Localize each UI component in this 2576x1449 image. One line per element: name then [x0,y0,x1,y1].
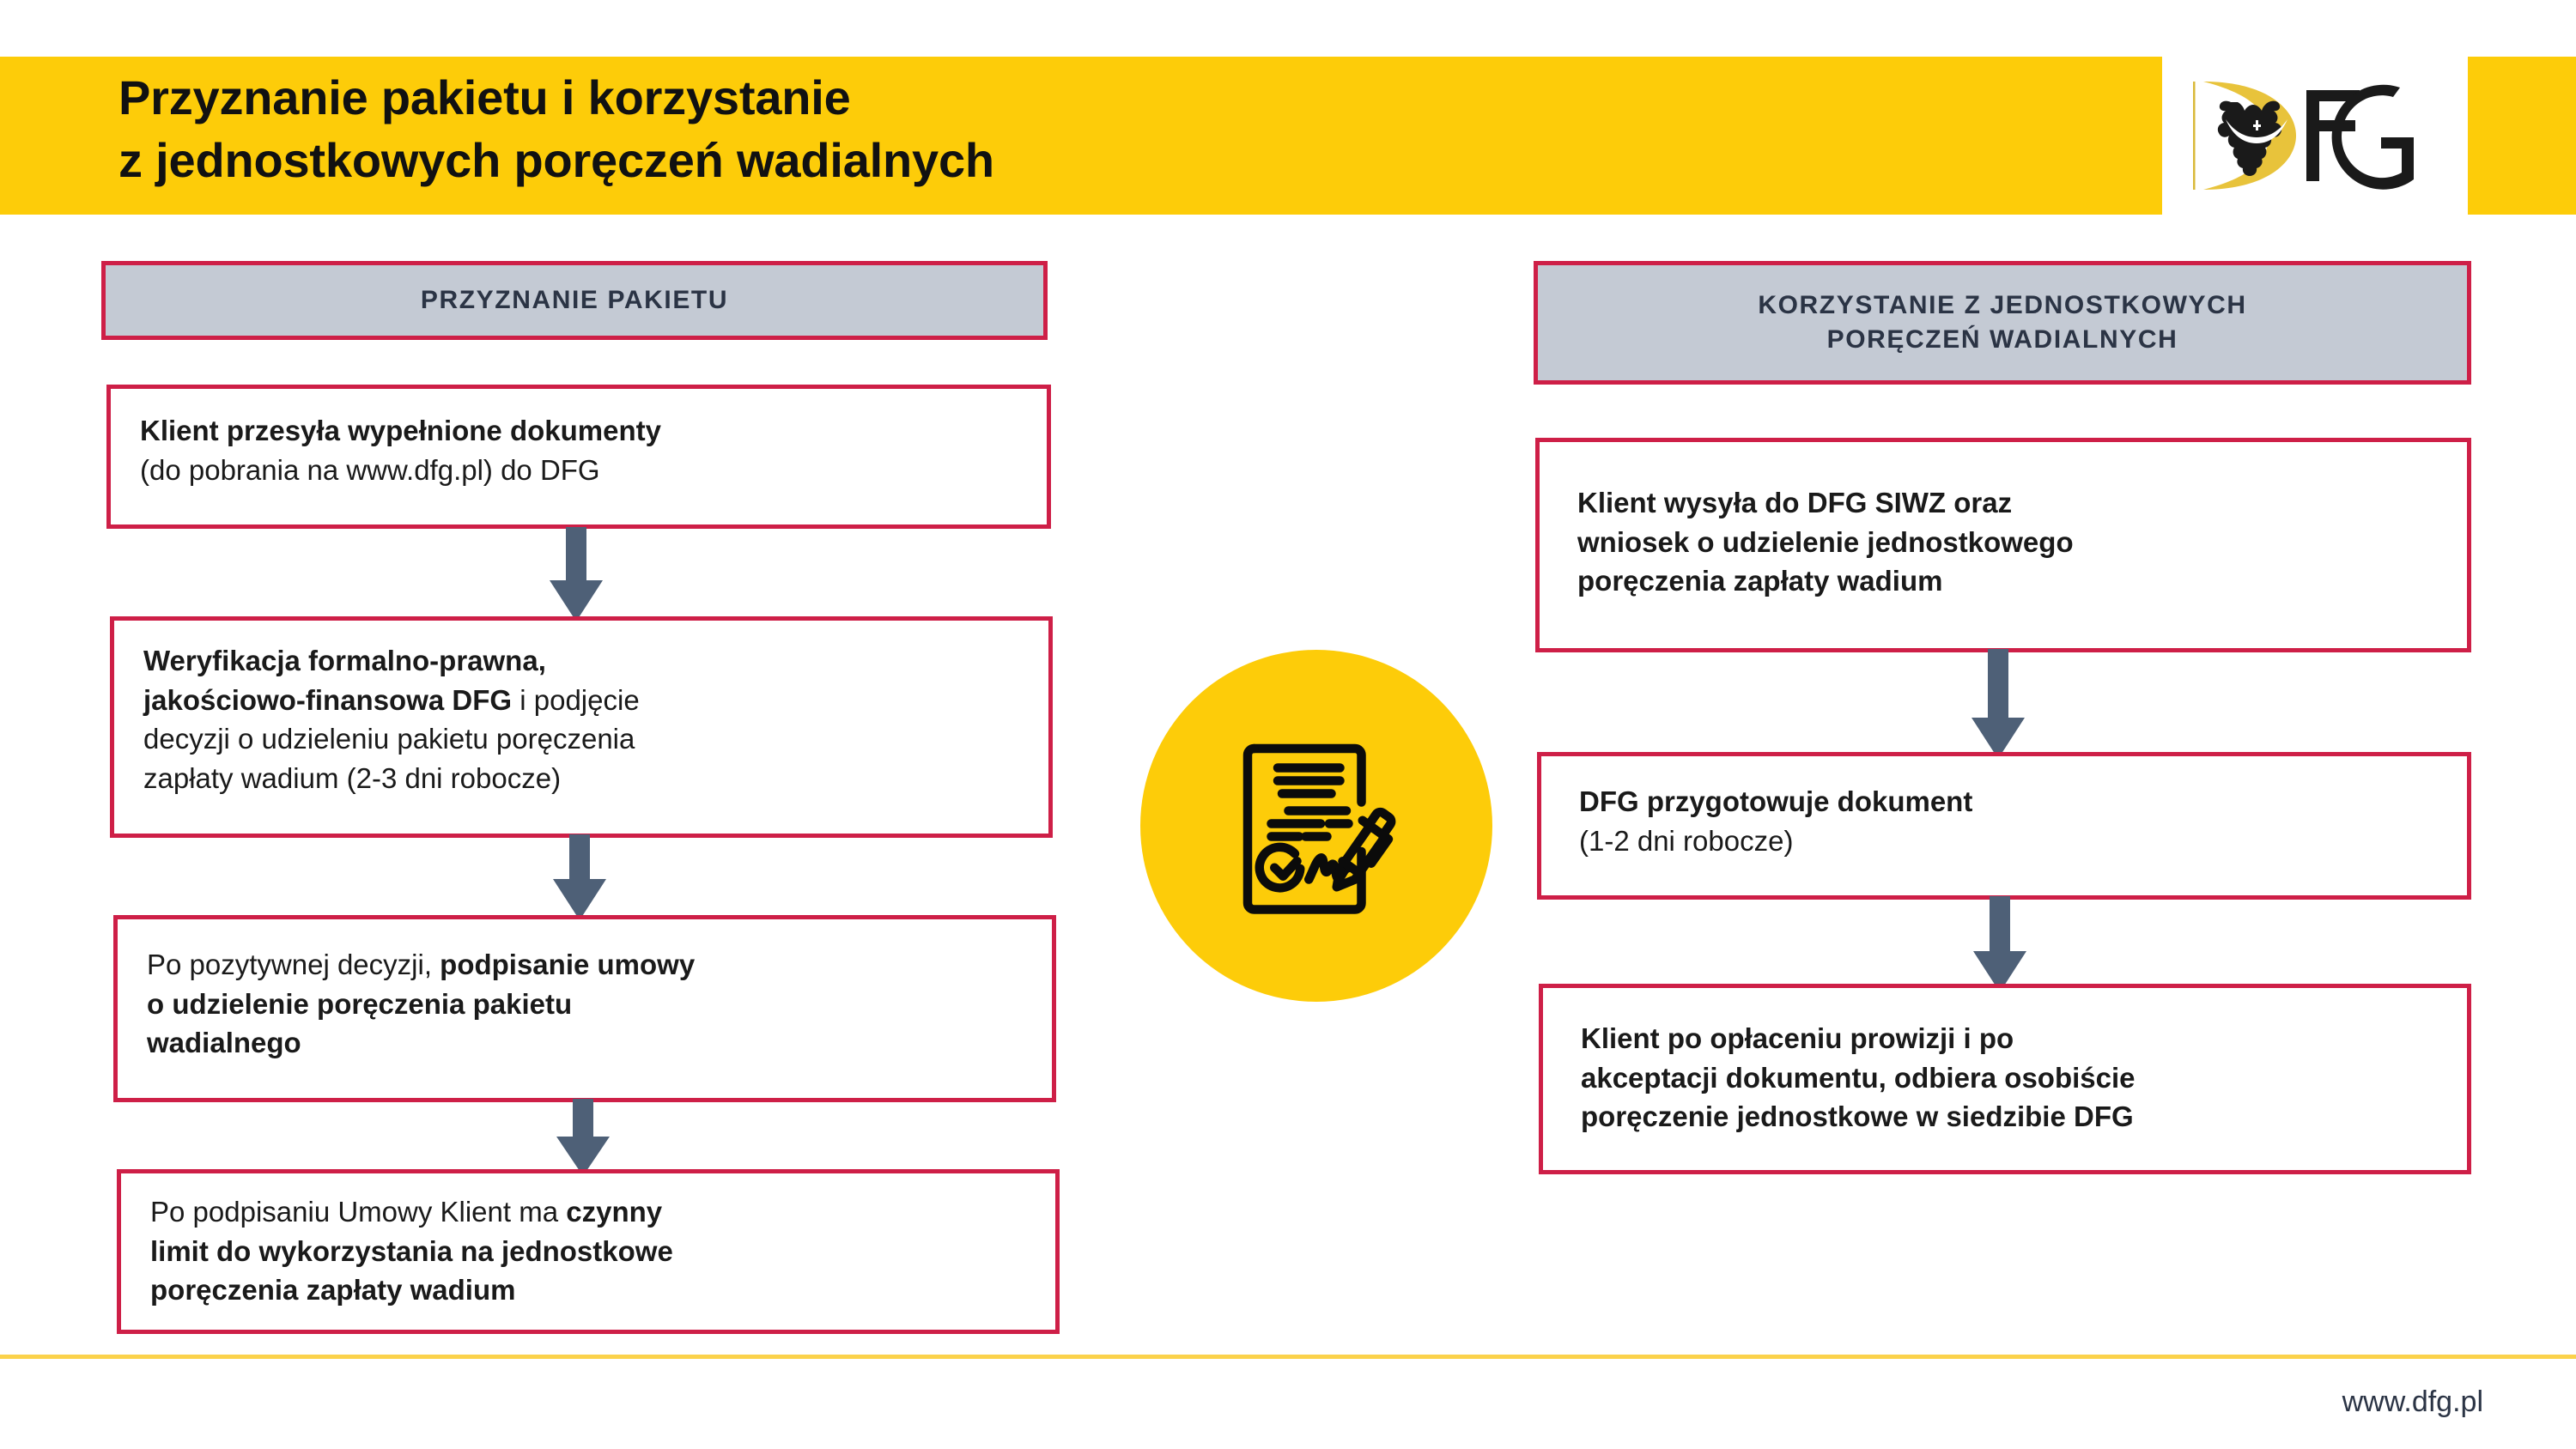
right-step-1-text: Klient wysyła do DFG SIWZ orazwniosek o … [1577,483,2446,601]
right-step-3-text: Klient po opłaceniu prowizji i poakcepta… [1581,1019,2446,1137]
left-column-heading: PRZYZNANIE PAKIETU [101,261,1048,340]
left-arrow-2 [553,834,606,920]
left-step-4-box: Po podpisaniu Umowy Klient ma czynnylimi… [117,1169,1060,1334]
right-column-heading: KORZYSTANIE Z JEDNOSTKOWYCH PORĘCZEŃ WAD… [1534,261,2471,385]
left-step-3-text: Po pozytywnej decyzji, podpisanie umowyo… [147,945,1031,1063]
right-step-2-text: DFG przygotowuje dokument(1-2 dni robocz… [1579,782,2446,860]
footer-url[interactable]: www.dfg.pl [2342,1385,2483,1419]
left-step-4-text: Po podpisaniu Umowy Klient ma czynnylimi… [150,1192,1035,1310]
left-arrow-3 [556,1099,610,1176]
signed-document-pen-icon [1140,650,1492,1002]
left-step-1-box: Klient przesyła wypełnione dokumenty(do … [106,385,1051,529]
right-step-2-box: DFG przygotowuje dokument(1-2 dni robocz… [1537,752,2471,900]
right-step-3-box: Klient po opłaceniu prowizji i poakcepta… [1539,984,2471,1174]
right-arrow-1 [1971,649,2025,759]
left-arrow-1 [550,527,603,621]
page-title: Przyznanie pakietu i korzystanie z jedno… [118,67,2093,192]
left-step-3-box: Po pozytywnej decyzji, podpisanie umowyo… [113,915,1056,1102]
dfg-logo-svg [2186,71,2444,200]
left-step-2-text: Weryfikacja formalno-prawna,jakościowo-f… [143,641,1028,797]
left-step-1-text: Klient przesyła wypełnione dokumenty(do … [140,411,1026,489]
left-step-2-box: Weryfikacja formalno-prawna,jakościowo-f… [110,616,1053,838]
dfg-logo [2162,57,2468,215]
right-step-1-box: Klient wysyła do DFG SIWZ orazwniosek o … [1535,438,2471,652]
signed-document-pen-icon-svg [1209,718,1424,933]
footer-divider [0,1355,2576,1359]
right-arrow-2 [1973,896,2026,992]
